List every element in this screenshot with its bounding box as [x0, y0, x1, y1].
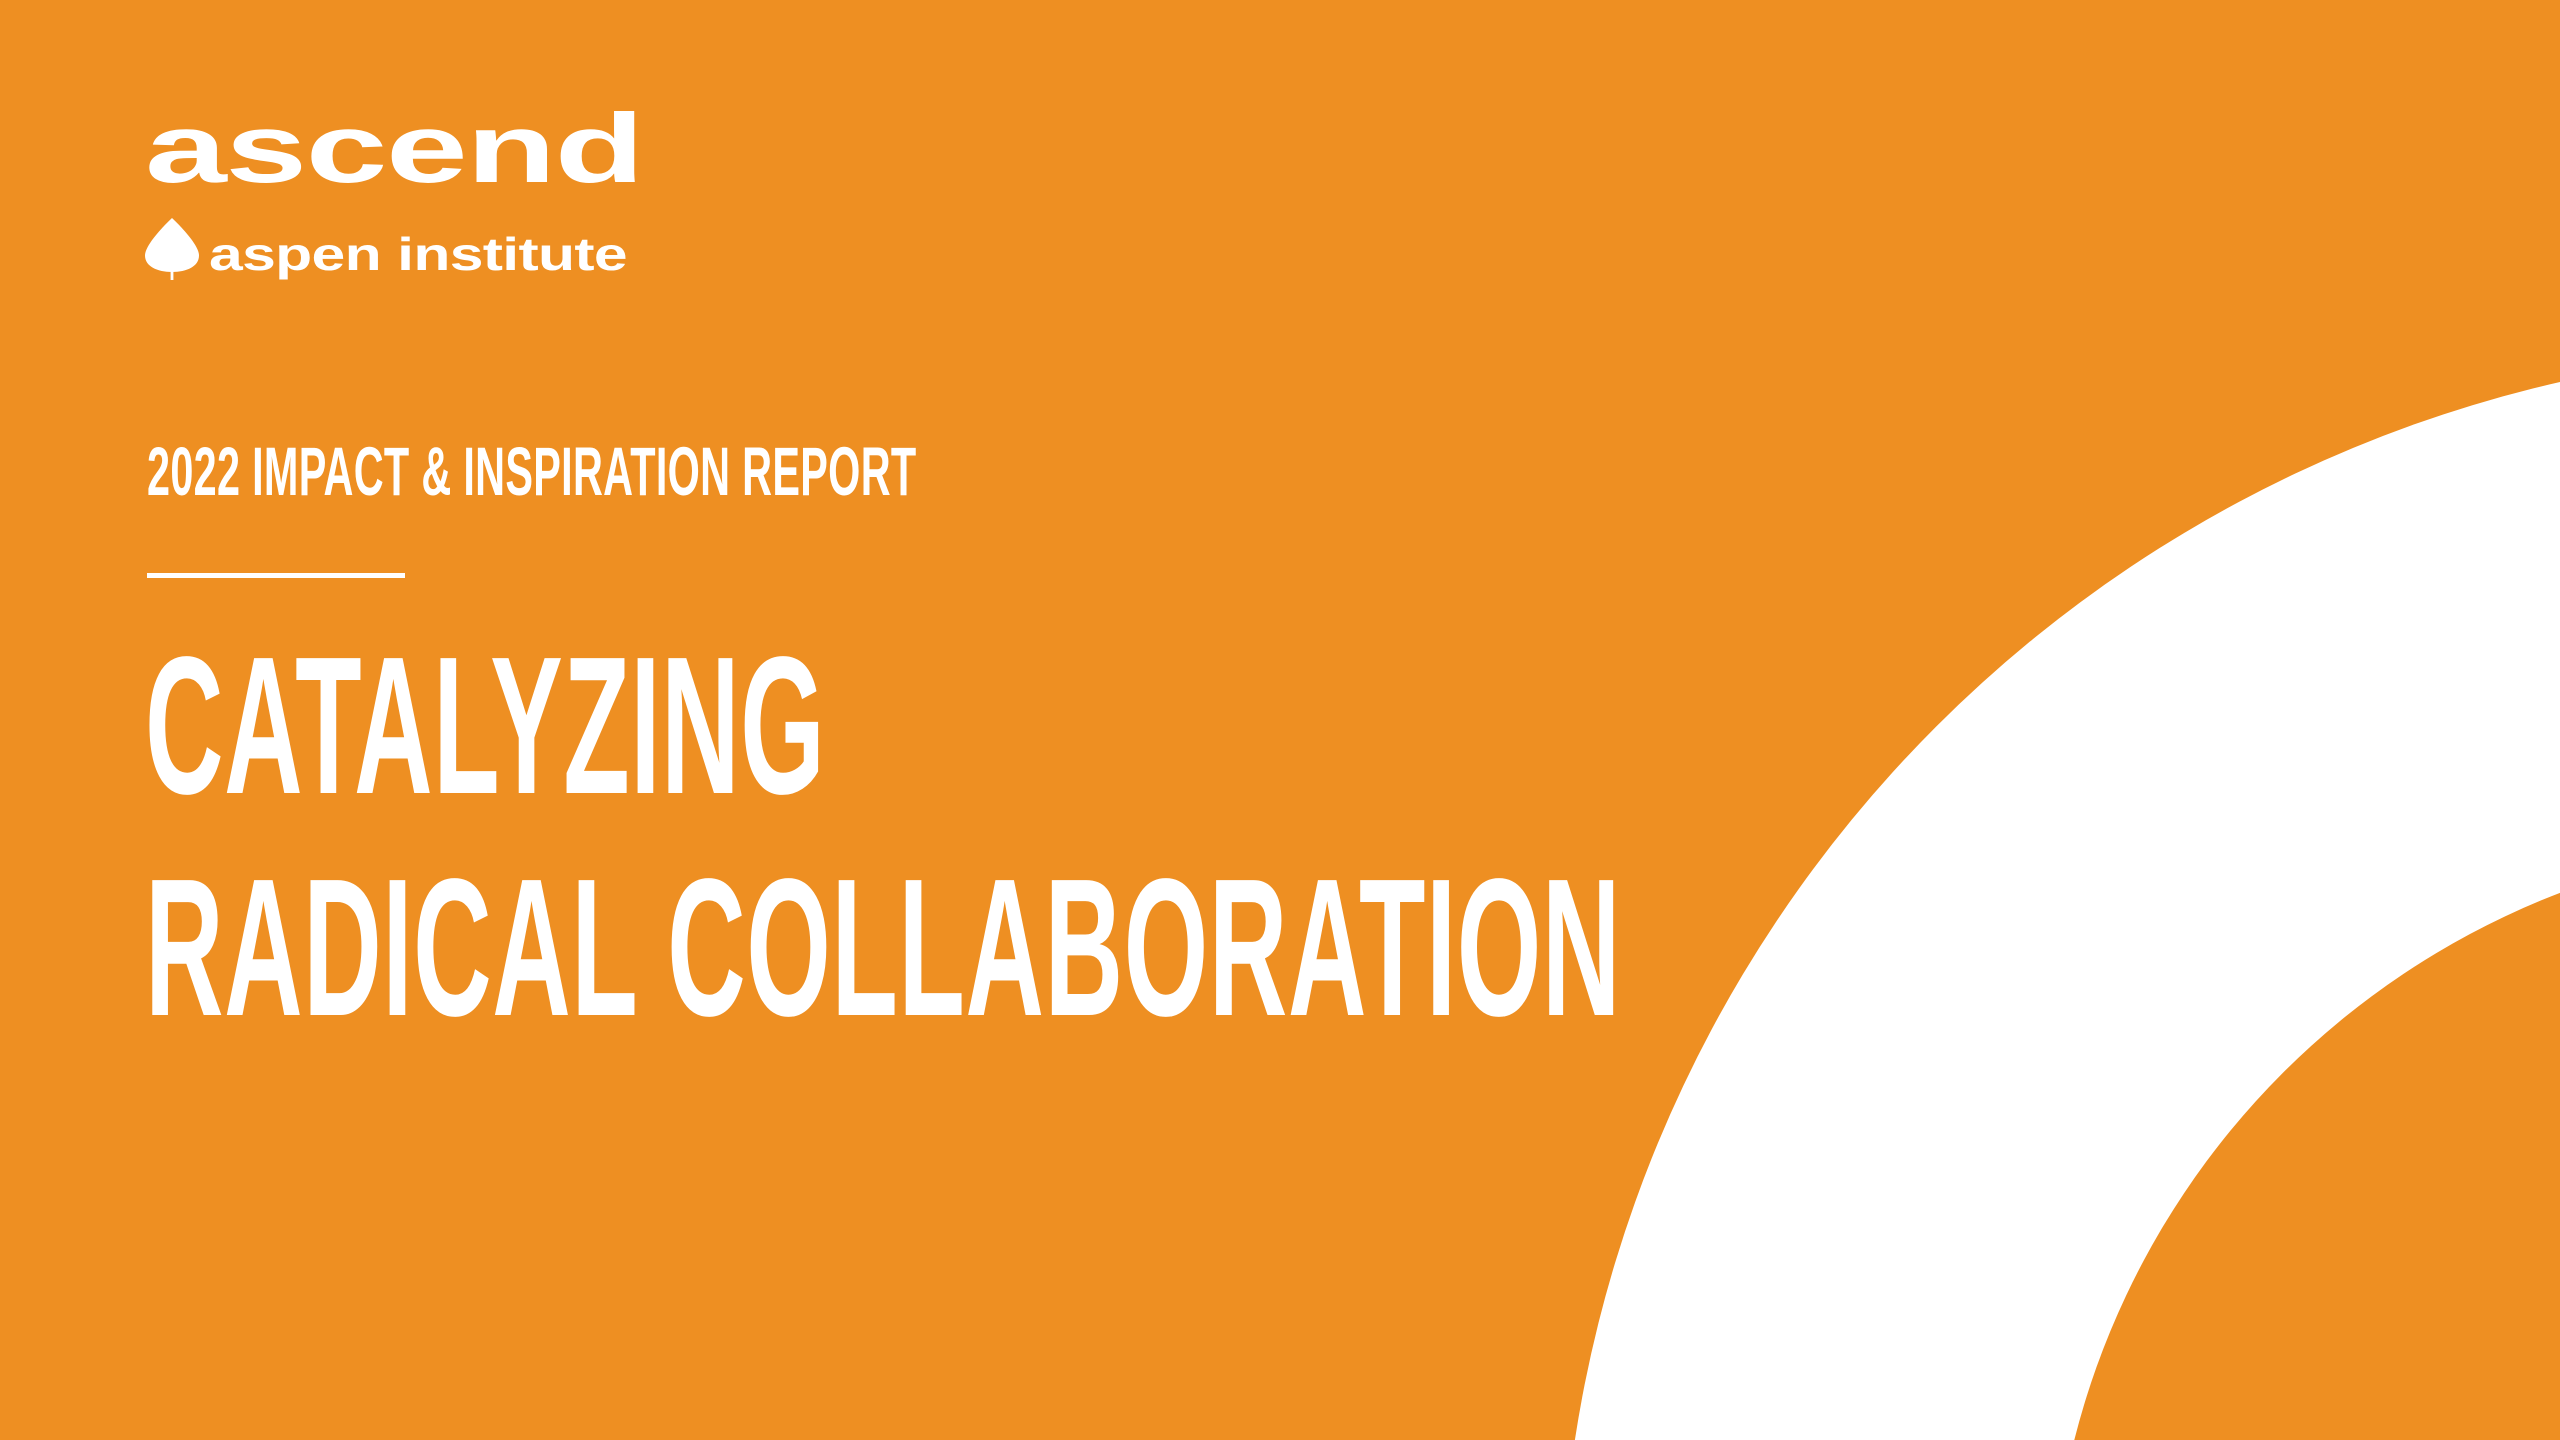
aspen-institute-text: aspen institute	[209, 234, 627, 280]
ascend-wordmark-text: ascend	[145, 108, 643, 200]
title-divider-rule	[147, 573, 405, 578]
cover-headline-line-2: RADICAL COLLABORATION	[145, 850, 1621, 1046]
ascend-wordmark: ascend	[145, 108, 645, 200]
report-eyebrow-label: 2022 IMPACT & INSPIRATION REPORT	[147, 437, 916, 506]
report-cover-page: ascend aspen institute 2022 IMPACT & INS…	[0, 0, 2560, 1440]
aspen-leaf-icon	[145, 218, 199, 280]
aspen-institute-subtext: aspen institute	[209, 234, 629, 280]
cover-headline-line-1: CATALYZING	[145, 628, 825, 824]
brand-logo-lockup: ascend aspen institute	[145, 108, 665, 280]
